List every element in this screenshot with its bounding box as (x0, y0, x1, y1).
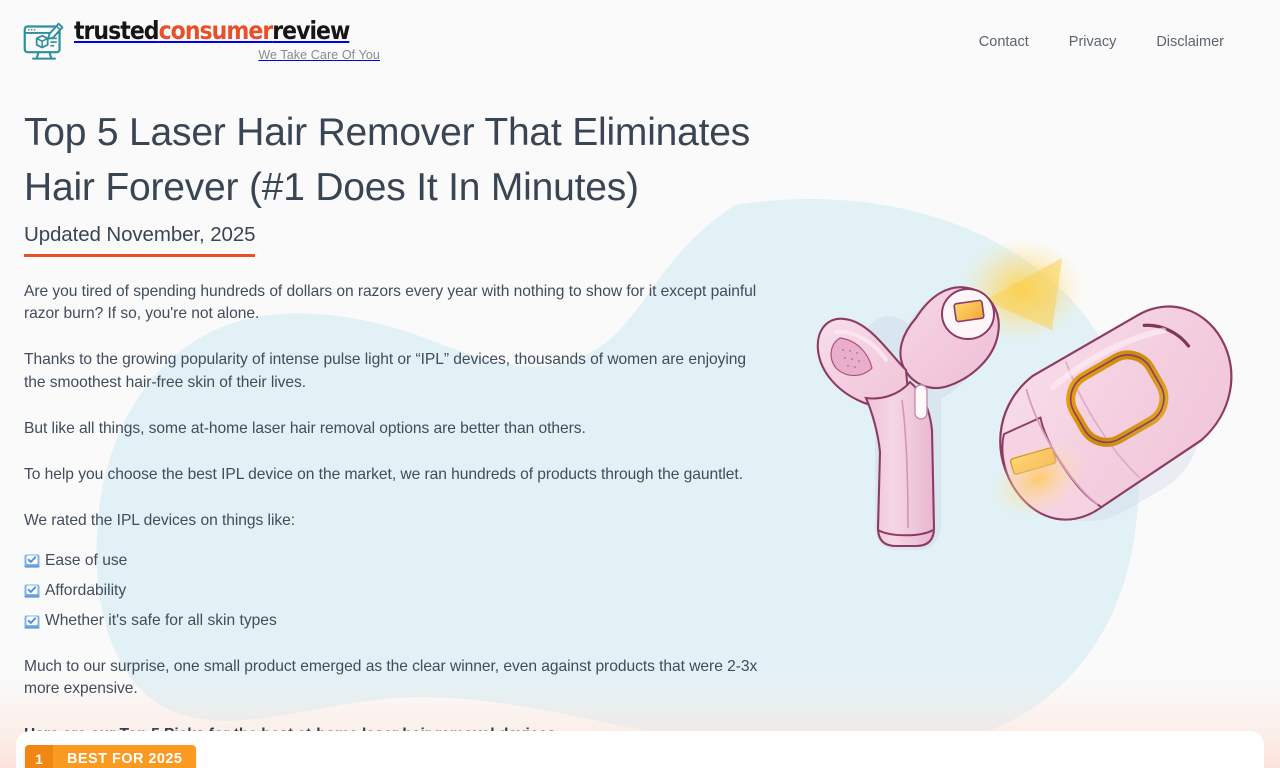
logo-tagline: We Take Care Of You (74, 49, 380, 62)
criteria-list: Ease of use Affordability Whethe (24, 550, 769, 632)
paragraph-intro: Are you tired of spending hundreds of do… (24, 281, 769, 325)
top-picks-card: 1 BEST FOR 2025 (16, 731, 1264, 768)
paragraph-rating-lead: We rated the IPL devices on things like: (24, 510, 769, 532)
criteria-label: Affordability (45, 580, 126, 602)
logo-word-trusted: trusted (74, 16, 159, 45)
logo-wordmark: trustedconsumerreview (74, 19, 349, 44)
criteria-item-skin-safety: Whether it's safe for all skin types (24, 610, 769, 632)
logo-word-consumer: consumer (159, 16, 273, 45)
criteria-item-affordability: Affordability (24, 580, 769, 602)
article-content: Top 5 Laser Hair Remover That Eliminates… (0, 84, 1280, 746)
criteria-item-ease: Ease of use (24, 550, 769, 572)
site-header: trustedconsumerreview We Take Care Of Yo… (0, 0, 1280, 84)
ballot-box-check-icon (24, 553, 40, 569)
criteria-label: Whether it's safe for all skin types (45, 610, 277, 632)
paragraph-ipl-growth: Thanks to the growing popularity of inte… (24, 349, 769, 393)
site-logo[interactable]: trustedconsumerreview We Take Care Of Yo… (22, 19, 380, 65)
monitor-pencil-icon (22, 21, 66, 65)
rank-label: BEST FOR 2025 (53, 745, 196, 768)
rank-number: 1 (25, 745, 53, 768)
paragraph-winner: Much to our surprise, one small product … (24, 656, 769, 700)
rank-badge[interactable]: 1 BEST FOR 2025 (25, 745, 196, 768)
main-nav: Contact Privacy Disclaimer (979, 34, 1224, 50)
criteria-label: Ease of use (45, 550, 127, 572)
paragraph-comparison: But like all things, some at-home laser … (24, 418, 769, 440)
nav-link-contact[interactable]: Contact (979, 34, 1029, 50)
logo-wordmark-group: trustedconsumerreview We Take Care Of Yo… (74, 19, 380, 61)
nav-link-disclaimer[interactable]: Disclaimer (1156, 34, 1224, 50)
article-body: Are you tired of spending hundreds of do… (24, 281, 769, 746)
ballot-box-check-icon (24, 583, 40, 599)
logo-word-review: review (272, 16, 349, 45)
page-title: Top 5 Laser Hair Remover That Eliminates… (24, 106, 824, 215)
paragraph-gauntlet: To help you choose the best IPL device o… (24, 464, 769, 486)
updated-date: Updated November, 2025 (24, 223, 255, 257)
ballot-box-check-icon (24, 614, 40, 630)
nav-link-privacy[interactable]: Privacy (1069, 34, 1117, 50)
updated-row: Updated November, 2025 (24, 223, 1256, 257)
